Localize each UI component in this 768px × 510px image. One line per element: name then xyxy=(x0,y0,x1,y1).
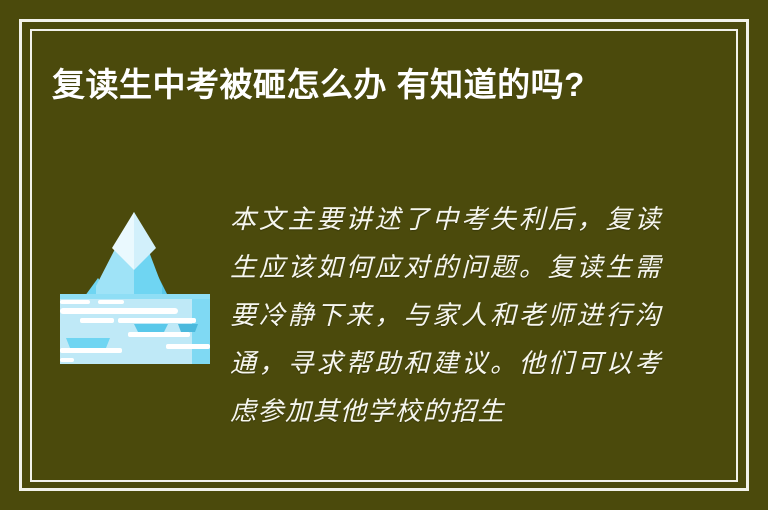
ice-floe-large xyxy=(66,338,110,348)
article-body: 本文主要讲述了中考失利后，复读生应该如何应对的问题。复读生需要冷静下来，与家人和… xyxy=(230,196,662,436)
iceberg-svg xyxy=(52,200,212,365)
wave-streak xyxy=(60,300,90,304)
water-surface-line xyxy=(60,294,210,299)
article-content: 本文主要讲述了中考失利后，复读生应该如何应对的问题。复读生需要冷静下来，与家人和… xyxy=(52,196,722,474)
wave-streak xyxy=(98,300,124,304)
article-card: 复读生中考被砸怎么办 有知道的吗? xyxy=(0,0,768,510)
wave-streak xyxy=(128,332,190,337)
wave-streak xyxy=(60,308,178,314)
ice-floe-small xyxy=(178,324,198,332)
wave-streak xyxy=(80,318,114,323)
iceberg-illustration xyxy=(52,200,212,365)
wave-streak xyxy=(60,358,74,362)
wave-streak xyxy=(60,348,122,353)
wave-streak xyxy=(166,344,210,349)
page-title: 复读生中考被砸怎么办 有知道的吗? xyxy=(52,58,712,111)
wave-streak xyxy=(118,318,196,323)
ice-floe-small xyxy=(134,324,168,332)
